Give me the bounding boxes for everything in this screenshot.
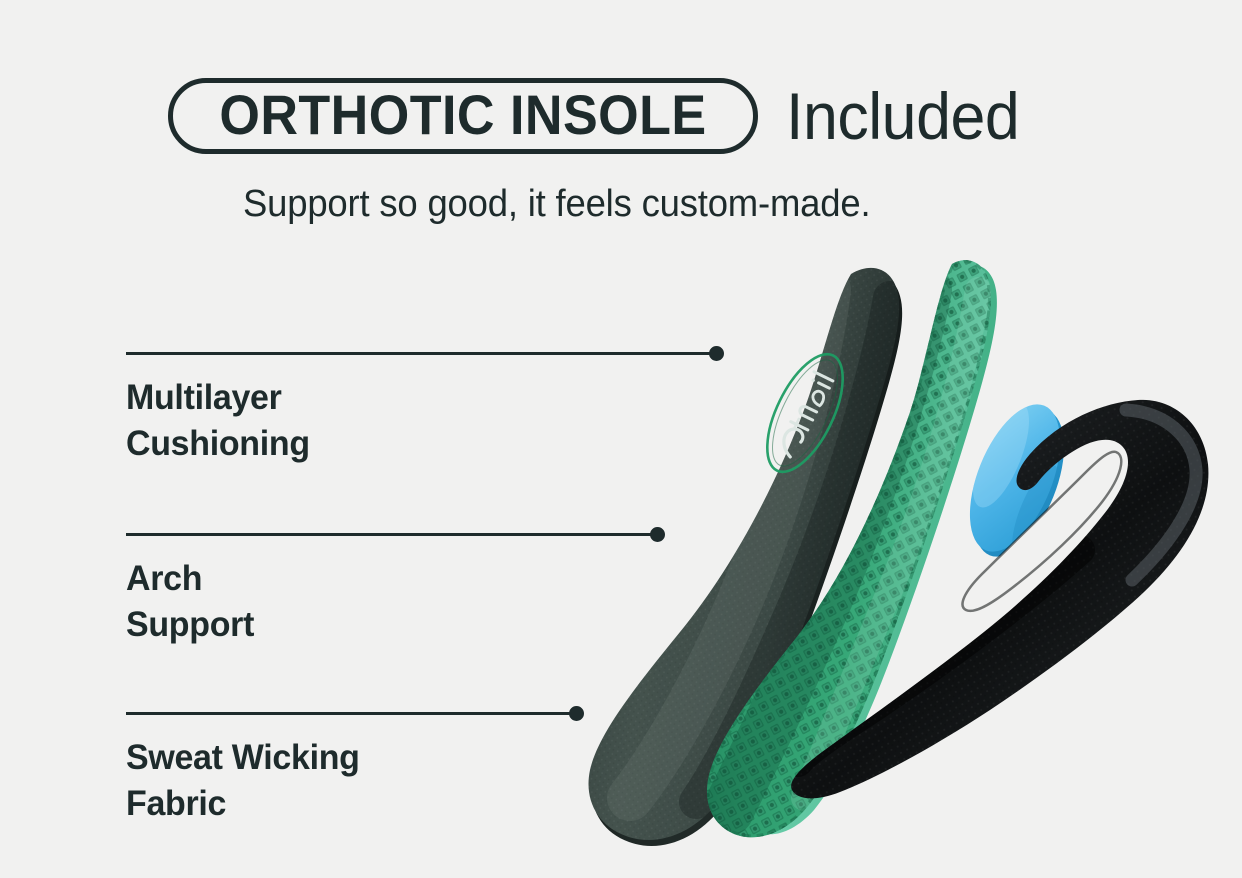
subtitle: Support so good, it feels custom-made.	[243, 183, 870, 226]
feature-callout-multilayer-cushioning: Multilayer Cushioning	[126, 348, 315, 466]
feature-rule	[126, 348, 315, 358]
headline-suffix: Included	[786, 83, 1019, 149]
headline: ORTHOTIC INSOLE Included	[168, 78, 1031, 154]
feature-rule	[126, 529, 258, 539]
feature-callout-arch-support: Arch Support	[126, 529, 258, 647]
promo-banner: ORTHOTIC INSOLE Included Support so good…	[0, 0, 1242, 878]
feature-label: Multilayer Cushioning	[126, 375, 310, 466]
feature-rule	[126, 708, 367, 718]
feature-label: Arch Support	[126, 556, 254, 647]
orthotic-insole-pill: ORTHOTIC INSOLE	[168, 78, 758, 154]
pill-label: ORTHOTIC INSOLE	[219, 87, 706, 143]
product-image	[560, 250, 1242, 860]
feature-callout-sweat-wicking-fabric: Sweat Wicking Fabric	[126, 708, 367, 826]
feature-label: Sweat Wicking Fabric	[126, 735, 360, 826]
feature-line	[126, 712, 576, 715]
